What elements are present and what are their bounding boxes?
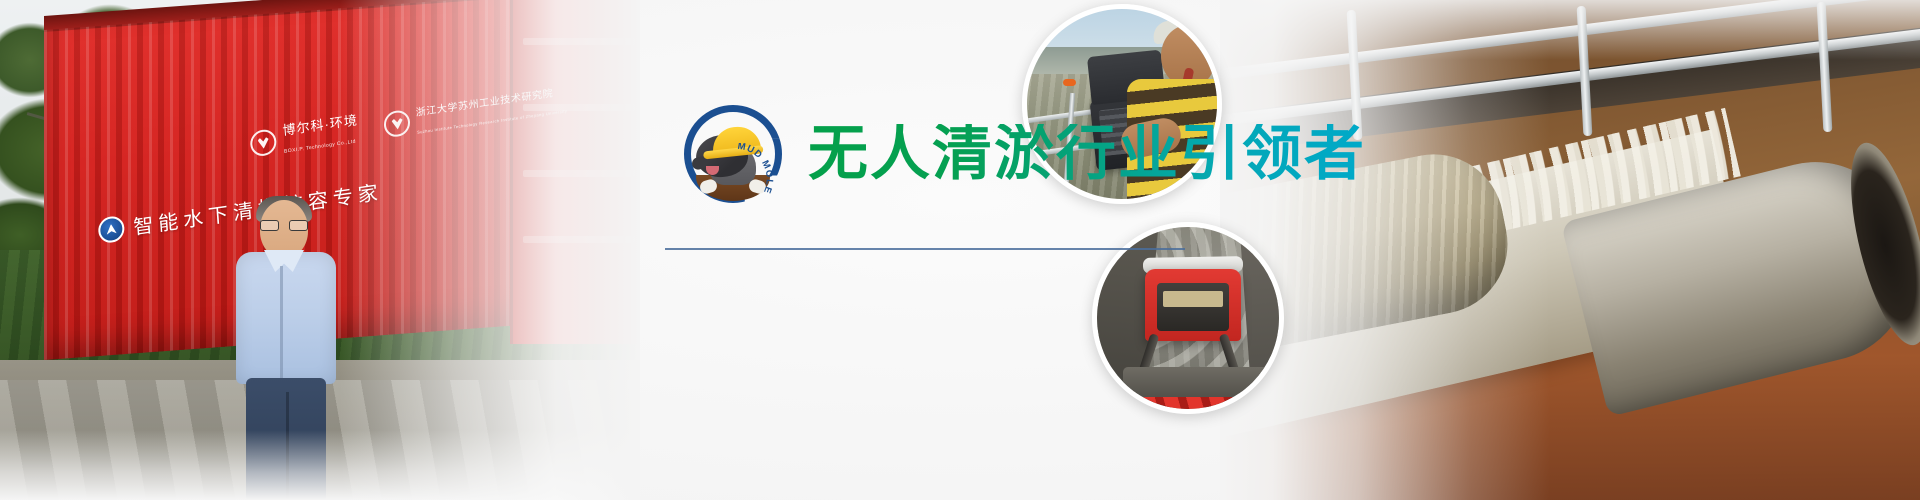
- slogan-badge-icon: [97, 214, 125, 244]
- arc-text-content: MUD MOLE: [737, 143, 775, 196]
- left-photo-right-fade: [340, 0, 640, 500]
- logo-and-headline-row: MUD MOLE 无人清淤行业引领者: [684, 105, 1366, 203]
- eyeglasses-icon: [260, 220, 308, 231]
- page-title: 无人清淤行业引领者: [808, 124, 1366, 184]
- hero-banner: 博尔科·环境 BOXI.P. Technology Co.,Ltd 浙江大学苏州…: [0, 0, 1920, 500]
- svg-text:MUD MOLE: MUD MOLE: [737, 143, 775, 196]
- shirt-placket: [280, 266, 283, 378]
- mole-roundel-logo: MUD MOLE: [684, 105, 782, 203]
- title-divider: [665, 248, 1185, 250]
- left-photo-scene: 博尔科·环境 BOXI.P. Technology Co.,Ltd 浙江大学苏州…: [0, 0, 640, 500]
- center-content: MUD MOLE 无人清淤行业引领者: [660, 0, 1280, 500]
- left-photo: 博尔科·环境 BOXI.P. Technology Co.,Ltd 浙江大学苏州…: [0, 0, 640, 500]
- sludge-pipe-photo: [1220, 0, 1920, 500]
- boxip-mark-icon: [249, 128, 277, 158]
- logo-arc-text: MUD MOLE: [732, 143, 788, 199]
- shirt: [236, 252, 336, 384]
